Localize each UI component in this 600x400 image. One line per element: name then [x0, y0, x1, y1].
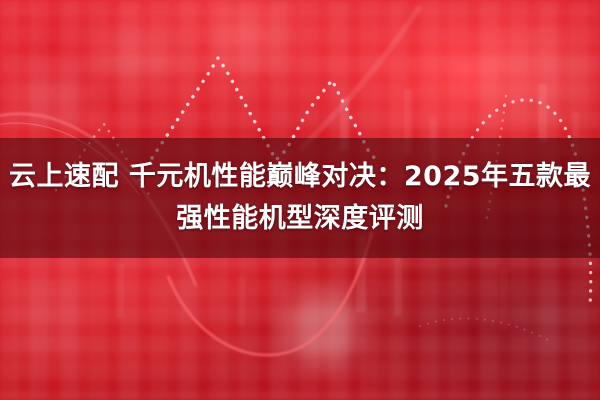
light-streak: [300, 6, 420, 150]
candlestick-bar: [116, 264, 124, 318]
bokeh-blob: [160, 276, 206, 316]
article-cover-banner: 云上速配 千元机性能巅峰对决：2025年五款最 强性能机型深度评测: [0, 0, 600, 400]
bokeh-blob: [18, 74, 82, 120]
bokeh-blob: [286, 292, 360, 364]
bokeh-blob: [214, 12, 284, 72]
candlestick-bar: [538, 84, 547, 142]
bokeh-blob: [520, 300, 580, 354]
candlestick-bar: [238, 276, 245, 326]
bokeh-blob: [20, 268, 78, 364]
candlestick-bar: [500, 268, 508, 330]
headline-line-1: 云上速配 千元机性能巅峰对决：2025年五款最: [9, 161, 591, 193]
page-title: 云上速配 千元机性能巅峰对决：2025年五款最 强性能机型深度评测: [0, 138, 600, 258]
bokeh-blob: [96, 30, 174, 84]
headline-line-2: 强性能机型深度评测: [176, 203, 424, 235]
candlestick-bar: [394, 258, 402, 316]
dotted-connector-line: [420, 318, 548, 340]
bokeh-blob: [470, 30, 590, 120]
